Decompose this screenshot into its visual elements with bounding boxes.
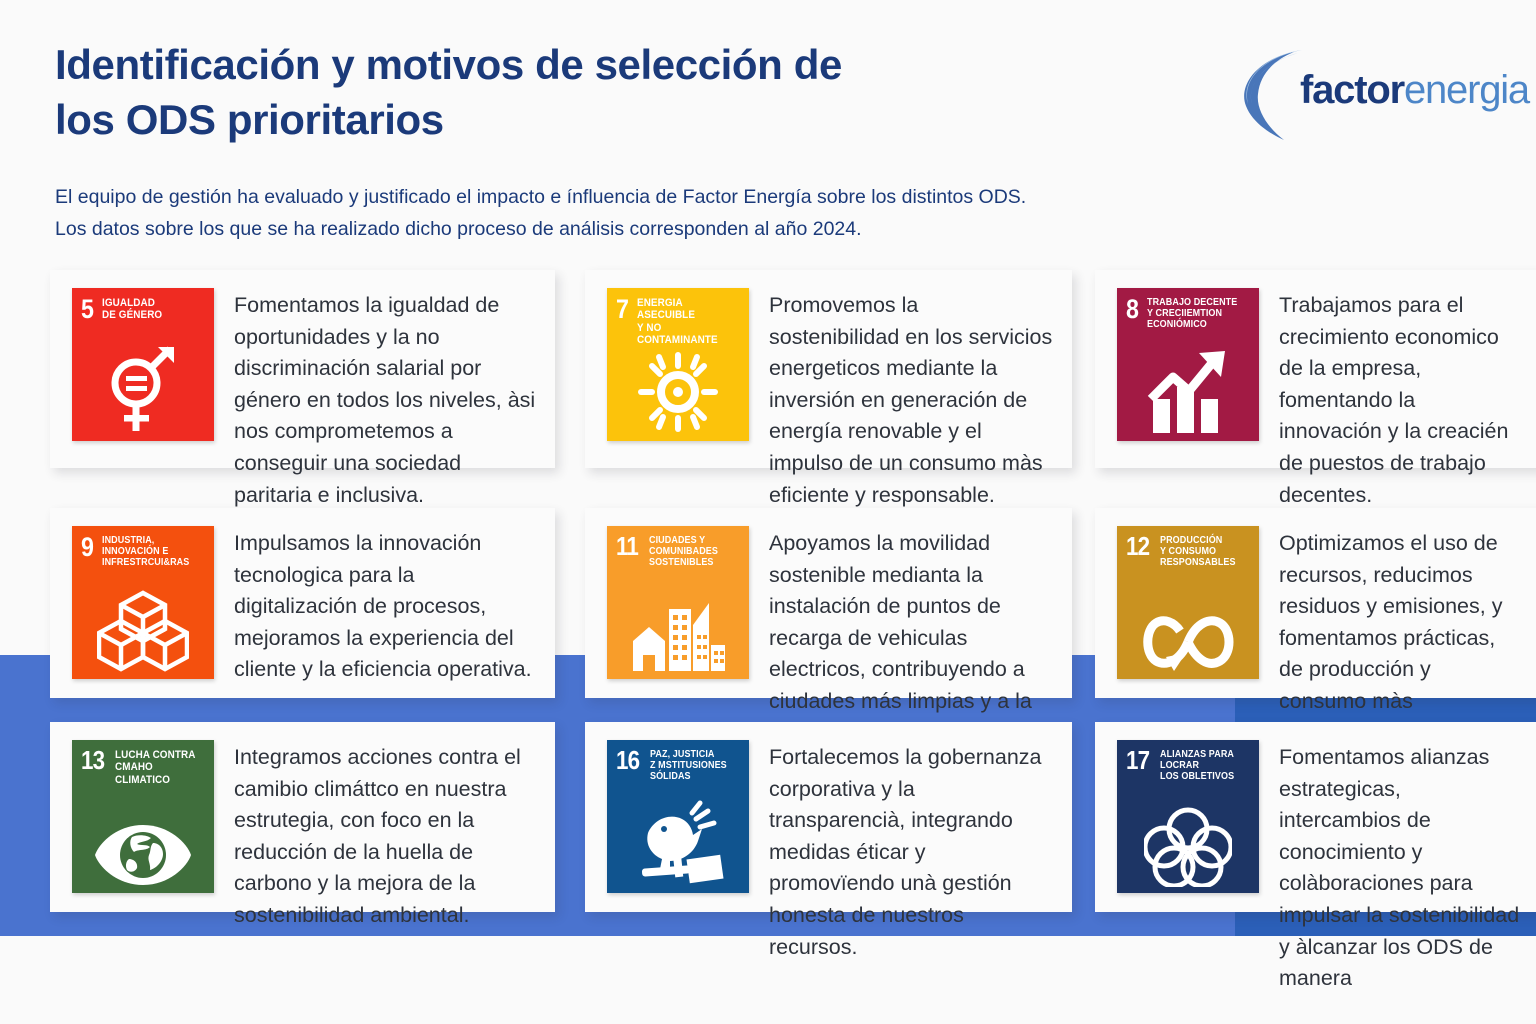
ods-card-8: 8TRABAJO DECENTE Y CRECIIEMTION ECONIÓMI…	[1095, 270, 1536, 468]
ods-number: 7	[616, 297, 628, 322]
ods-card-description: Fomentamos la igualdad de oportunidades …	[234, 290, 539, 511]
ods-card-description: Trabajamos para el crecimiento economico…	[1279, 290, 1525, 511]
ods-tile-9: 9INDUSTRIA, INNOVACIÓN E INFRESTRCUI&RAS	[72, 526, 214, 679]
logo-wordmark: factorenergia	[1300, 68, 1529, 113]
ods-tile-label: PAZ, JUSTICIA Z MSTITUSIONES SÓLIDAS	[650, 749, 727, 783]
ods-card-description: Promovemos la sostenibilidad en los serv…	[769, 290, 1056, 511]
ods-tile-header: 16PAZ, JUSTICIA Z MSTITUSIONES SÓLIDAS	[616, 749, 744, 783]
subtitle-line1: El equipo de gestión ha evaluado y justi…	[55, 186, 1026, 208]
ods-tile-header: 11CIUDADES Y COMUNIBADES SOSTENIBLES	[616, 535, 744, 569]
ods-card-description: Fortalecemos la gobernanza corporativa y…	[769, 742, 1056, 963]
ods-number: 8	[1126, 297, 1138, 322]
ods-tile-header: 12PRODUCCIÓN Y CONSUMO RESPONSABLES	[1126, 535, 1254, 569]
ods-card-description: Integramos acciones contra el camibio cl…	[234, 742, 539, 932]
infinity-loop-icon	[1117, 611, 1259, 673]
ods-number: 11	[616, 535, 638, 559]
ods-card-description: Fomentamos alianzas estrategicas, interc…	[1279, 742, 1525, 995]
interlocking-circles-icon	[1117, 803, 1259, 887]
ods-number: 16	[616, 749, 639, 773]
ods-tile-11: 11CIUDADES Y COMUNIBADES SOSTENIBLES	[607, 526, 749, 679]
ods-tile-label: ALIANZAS PARA LOCRAR LOS OBLETIVOS	[1160, 749, 1234, 783]
ods-tile-label: LUCHA CONTRA CMAHO CLIMATICO	[115, 749, 200, 786]
ods-tile-13: 13LUCHA CONTRA CMAHO CLIMATICO	[72, 740, 214, 893]
ods-number: 9	[81, 535, 93, 560]
ods-number: 5	[81, 297, 93, 322]
ods-tile-7: 7ENERGIA ASECUIBLE Y NO CONTAMINANTE	[607, 288, 749, 441]
dove-gavel-icon	[607, 795, 749, 887]
ods-card-description: Impulsamos la innovación tecnologica par…	[234, 528, 539, 686]
ods-card-17: 17ALIANZAS PARA LOCRAR LOS OBLETIVOS Fom…	[1095, 722, 1536, 912]
ods-tile-16: 16PAZ, JUSTICIA Z MSTITUSIONES SÓLIDAS	[607, 740, 749, 893]
page-title-line2: los ODS prioritarios	[55, 93, 1055, 148]
ods-card-9: 9INDUSTRIA, INNOVACIÓN E INFRESTRCUI&RAS…	[50, 508, 555, 698]
ods-tile-header: 8TRABAJO DECENTE Y CRECIIEMTION ECONIÓMI…	[1126, 297, 1254, 331]
ods-tile-label: INDUSTRIA, INNOVACIÓN E INFRESTRCUI&RAS	[102, 535, 189, 569]
ods-tile-header: 7ENERGIA ASECUIBLE Y NO CONTAMINANTE	[616, 297, 744, 346]
eye-globe-icon	[72, 823, 214, 887]
ods-card-16: 16PAZ, JUSTICIA Z MSTITUSIONES SÓLIDAS F…	[585, 722, 1072, 912]
header: Identificación y motivos de selección de…	[0, 0, 1536, 256]
ods-card-5: 5IGUALDAD DE GÉNERO Fomentamos la iguald…	[50, 270, 555, 468]
city-buildings-icon	[607, 595, 749, 673]
ods-tile-5: 5IGUALDAD DE GÉNERO	[72, 288, 214, 441]
growth-chart-icon	[1117, 347, 1259, 435]
ods-number: 12	[1126, 535, 1149, 559]
logo-text-light: energia	[1404, 68, 1529, 112]
factorenergia-logo: factorenergia	[1232, 44, 1522, 144]
logo-text-bold: factor	[1300, 68, 1404, 112]
sun-icon	[607, 349, 749, 435]
ods-tile-label: PRODUCCIÓN Y CONSUMO RESPONSABLES	[1160, 535, 1236, 569]
page-title-line1: Identificación y motivos de selección de	[55, 41, 842, 88]
ods-card-description: Optimizamos el uso de recursos, reducimo…	[1279, 528, 1525, 749]
ods-card-13: 13LUCHA CONTRA CMAHO CLIMATICO Integramo…	[50, 722, 555, 912]
ods-card-7: 7ENERGIA ASECUIBLE Y NO CONTAMINANTE Pro…	[585, 270, 1072, 468]
gender-equality-icon	[72, 343, 214, 435]
cubes-icon	[72, 589, 214, 673]
ods-tile-label: TRABAJO DECENTE Y CRECIIEMTION ECONIÓMIC…	[1147, 297, 1237, 331]
ods-tile-label: CIUDADES Y COMUNIBADES SOSTENIBLES	[649, 535, 718, 569]
ods-tile-header: 13LUCHA CONTRA CMAHO CLIMATICO	[81, 749, 209, 786]
ods-number: 13	[81, 749, 104, 773]
ods-tile-12: 12PRODUCCIÓN Y CONSUMO RESPONSABLES	[1117, 526, 1259, 679]
ods-tile-8: 8TRABAJO DECENTE Y CRECIIEMTION ECONIÓMI…	[1117, 288, 1259, 441]
subtitle: El equipo de gestión ha evaluado y justi…	[55, 182, 1235, 245]
ods-tile-17: 17ALIANZAS PARA LOCRAR LOS OBLETIVOS	[1117, 740, 1259, 893]
ods-tile-header: 5IGUALDAD DE GÉNERO	[81, 297, 209, 322]
ods-card-12: 12PRODUCCIÓN Y CONSUMO RESPONSABLES Opti…	[1095, 508, 1536, 698]
ods-tile-label: IGUALDAD DE GÉNERO	[102, 297, 162, 322]
subtitle-line2: Los datos sobre los que se ha realizado …	[55, 214, 1235, 246]
ods-tile-header: 9INDUSTRIA, INNOVACIÓN E INFRESTRCUI&RAS	[81, 535, 209, 569]
ods-card-11: 11CIUDADES Y COMUNIBADES SOSTENIBLES Apo…	[585, 508, 1072, 698]
page-title: Identificación y motivos de selección de…	[55, 38, 1055, 147]
ods-tile-header: 17ALIANZAS PARA LOCRAR LOS OBLETIVOS	[1126, 749, 1254, 783]
ods-tile-label: ENERGIA ASECUIBLE Y NO CONTAMINANTE	[637, 297, 733, 346]
ods-number: 17	[1126, 749, 1149, 773]
